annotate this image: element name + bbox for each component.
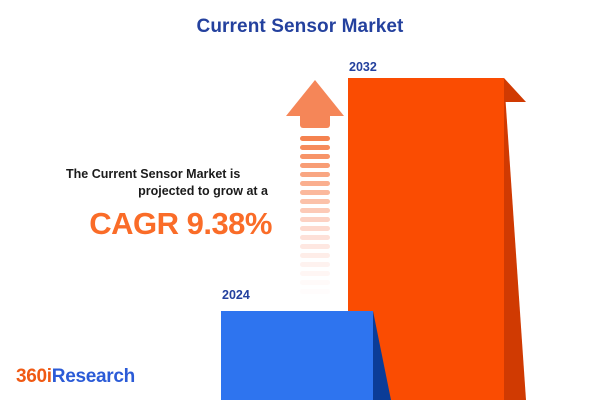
arrow-segment bbox=[300, 262, 330, 267]
statement-line-1: The Current Sensor Market is bbox=[36, 166, 278, 183]
arrow-segment bbox=[300, 154, 330, 159]
arrow-segment bbox=[300, 199, 330, 204]
bar-2024[interactable] bbox=[221, 311, 373, 400]
arrow-segment bbox=[300, 271, 330, 276]
bar-2032-side-face bbox=[504, 78, 526, 400]
page-title: Current Sensor Market bbox=[0, 16, 600, 38]
growth-arrow-icon bbox=[286, 80, 344, 292]
bar-2024-front-face bbox=[221, 311, 373, 400]
year-label-2024: 2024 bbox=[222, 288, 250, 302]
arrow-segment bbox=[300, 217, 330, 222]
brand-logo[interactable]: 360iResearch bbox=[16, 366, 135, 388]
arrow-segment bbox=[300, 136, 330, 141]
arrow-segment bbox=[300, 244, 330, 249]
arrow-segment bbox=[300, 190, 330, 195]
arrow-neck-icon bbox=[300, 115, 330, 128]
arrow-segment bbox=[300, 280, 330, 285]
bar-2032-bevel-icon bbox=[504, 78, 526, 102]
arrow-segment bbox=[300, 289, 330, 294]
infographic-canvas: Current Sensor Market The Current Sensor… bbox=[0, 0, 600, 400]
arrow-segment bbox=[300, 235, 330, 240]
arrow-segment bbox=[300, 208, 330, 213]
arrow-segment bbox=[300, 181, 330, 186]
arrow-segment bbox=[300, 172, 330, 177]
arrow-head-icon bbox=[286, 80, 344, 116]
arrow-segment bbox=[300, 163, 330, 168]
arrow-segment bbox=[300, 226, 330, 231]
growth-statement: The Current Sensor Market is projected t… bbox=[36, 166, 278, 242]
year-label-2032: 2032 bbox=[349, 60, 377, 74]
logo-text-primary: 360i bbox=[16, 366, 52, 387]
logo-text-secondary: Research bbox=[52, 366, 135, 387]
arrow-segment bbox=[300, 145, 330, 150]
statement-line-2: projected to grow at a bbox=[36, 183, 278, 200]
cagr-value: CAGR 9.38% bbox=[36, 206, 278, 242]
arrow-segment bbox=[300, 253, 330, 258]
